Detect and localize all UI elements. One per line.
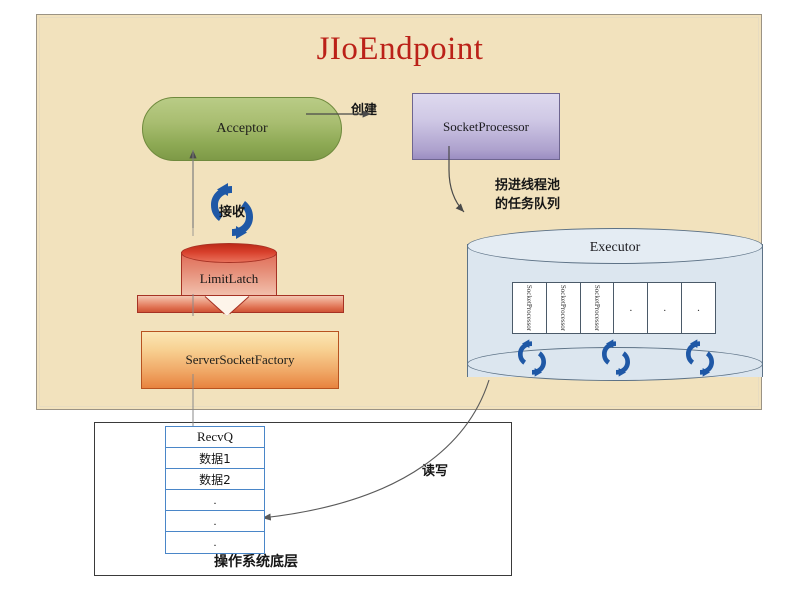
recvq-cell: . xyxy=(214,493,217,508)
node-socket-processor-label: SocketProcessor xyxy=(443,119,529,135)
queue-cell-label: . xyxy=(614,302,647,314)
recvq-cell: . xyxy=(214,514,217,529)
recvq-row[interactable]: . xyxy=(166,511,264,532)
page-title: JIoEndpoint xyxy=(37,31,763,68)
queue-cell-label: SocketProcessor xyxy=(525,285,533,331)
recvq-cell: 数据2 xyxy=(199,471,231,488)
recvq-table: RecvQ 数据1 数据2 . . . xyxy=(165,426,265,554)
refresh-cycle-icon xyxy=(596,338,636,378)
queue-cell-label: . xyxy=(682,302,715,314)
edge-label-readwrite: 读写 xyxy=(422,460,448,479)
node-acceptor[interactable]: Acceptor xyxy=(142,97,342,161)
queue-cell-label: . xyxy=(648,302,681,314)
node-server-socket-factory[interactable]: ServerSocketFactory xyxy=(141,331,339,389)
recvq-row[interactable]: . xyxy=(166,490,264,511)
recvq-cell: RecvQ xyxy=(197,429,233,445)
recvq-cell: . xyxy=(214,535,217,550)
node-limit-latch-label: LimitLatch xyxy=(181,271,277,287)
recvq-cell: 数据1 xyxy=(199,450,231,467)
refresh-cycle-icon xyxy=(680,338,720,378)
node-acceptor-label: Acceptor xyxy=(216,121,267,137)
receive-label: 接收 xyxy=(204,201,260,220)
node-socket-processor[interactable]: SocketProcessor xyxy=(412,93,560,160)
refresh-cycle-icon xyxy=(512,338,552,378)
limit-latch-top xyxy=(181,243,277,263)
queue-cell[interactable]: . xyxy=(648,283,682,333)
os-layer-caption: 操作系统底层 xyxy=(0,551,512,571)
queue-cell[interactable]: SocketProcessor xyxy=(581,283,615,333)
node-executor-label: Executor xyxy=(467,240,763,256)
recvq-row[interactable]: RecvQ xyxy=(166,427,264,448)
recvq-row[interactable]: 数据1 xyxy=(166,448,264,469)
queue-cell-label: SocketProcessor xyxy=(593,285,601,331)
queue-cell[interactable]: . xyxy=(682,283,715,333)
recvq-row[interactable]: . xyxy=(166,532,264,553)
queue-cell[interactable]: SocketProcessor xyxy=(547,283,581,333)
queue-cell-label: SocketProcessor xyxy=(559,285,567,331)
edge-label-enqueue-line2: 的任务队列 xyxy=(495,195,605,214)
node-server-socket-factory-label: ServerSocketFactory xyxy=(185,352,294,368)
edge-label-create: 创建 xyxy=(351,99,377,118)
executor-worker-icons xyxy=(512,338,720,378)
latch-notch xyxy=(205,296,249,316)
edge-label-enqueue-line1: 拐进线程池 xyxy=(495,176,605,195)
node-executor[interactable]: Executor SocketProcessor SocketProcessor… xyxy=(467,228,763,393)
queue-cell[interactable]: . xyxy=(614,283,648,333)
executor-task-queue: SocketProcessor SocketProcessor SocketPr… xyxy=(512,282,716,334)
edge-label-enqueue: 拐进线程池 的任务队列 xyxy=(495,176,605,214)
receive-cycle-icon-group: 接收 xyxy=(204,181,260,241)
recvq-row[interactable]: 数据2 xyxy=(166,469,264,490)
queue-cell[interactable]: SocketProcessor xyxy=(513,283,547,333)
jio-endpoint-panel: JIoEndpoint Acceptor 创建 SocketProcessor … xyxy=(36,14,762,410)
